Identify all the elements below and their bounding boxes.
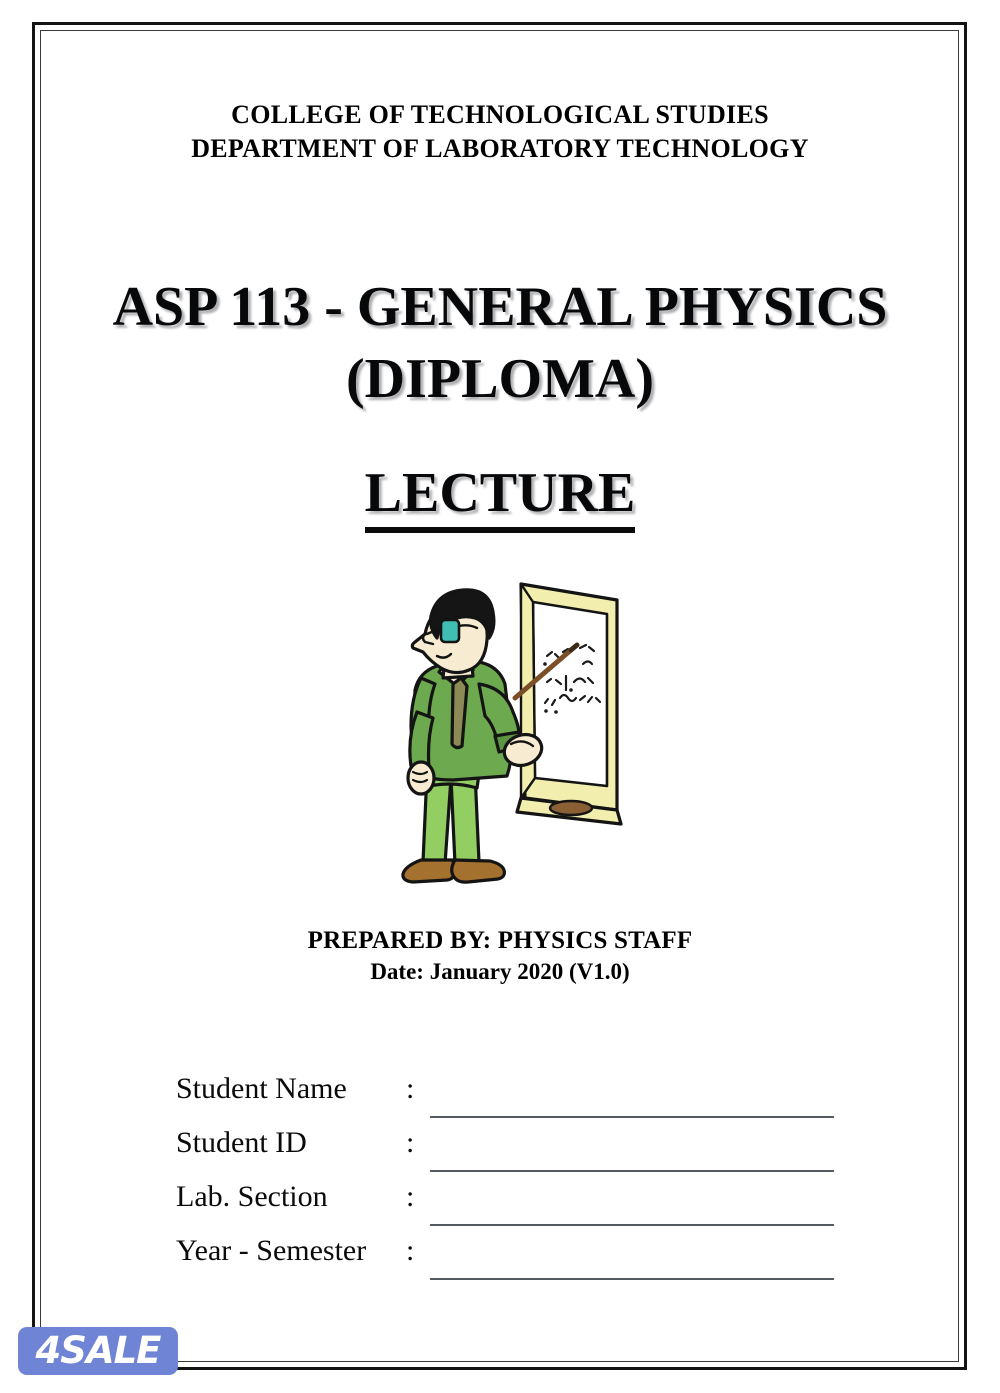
course-title-line-1: ASP 113 - GENERAL PHYSICS: [60, 272, 940, 344]
field-row-lab-section: Lab. Section :: [176, 1180, 856, 1234]
watermark-label: 4SALE: [36, 1332, 161, 1369]
prepared-by-block: PREPARED BY: PHYSICS STAFF Date: January…: [60, 925, 940, 987]
department-name: DEPARTMENT OF LABORATORY TECHNOLOGY: [60, 132, 940, 166]
subtitle-lecture: LECTURE: [365, 463, 636, 533]
institution-header: COLLEGE OF TECHNOLOGICAL STUDIES DEPARTM…: [60, 98, 940, 167]
document-page: COLLEGE OF TECHNOLOGICAL STUDIES DEPARTM…: [0, 0, 1000, 1393]
field-colon-year-semester: :: [406, 1234, 414, 1268]
date-line: Date: January 2020 (V1.0): [60, 957, 940, 987]
field-label-lab-section: Lab. Section: [176, 1180, 328, 1214]
field-input-student-name[interactable]: [430, 1116, 834, 1118]
field-label-year-semester: Year - Semester: [176, 1234, 366, 1268]
field-row-year-semester: Year - Semester :: [176, 1234, 856, 1288]
field-label-student-id: Student ID: [176, 1126, 307, 1160]
field-input-student-id[interactable]: [430, 1170, 834, 1172]
course-title-line-2: (DIPLOMA): [60, 344, 940, 416]
field-input-lab-section[interactable]: [430, 1224, 834, 1226]
course-title: ASP 113 - GENERAL PHYSICS (DIPLOMA): [60, 272, 940, 415]
college-name: COLLEGE OF TECHNOLOGICAL STUDIES: [60, 98, 940, 132]
teacher-at-whiteboard-illustration: [375, 572, 625, 902]
field-colon-student-name: :: [406, 1072, 414, 1106]
field-colon-student-id: :: [406, 1126, 414, 1160]
field-row-student-name: Student Name :: [176, 1072, 856, 1126]
subtitle-container: LECTURE: [60, 463, 940, 533]
field-label-student-name: Student Name: [176, 1072, 347, 1106]
field-colon-lab-section: :: [406, 1180, 414, 1214]
field-row-student-id: Student ID :: [176, 1126, 856, 1180]
field-input-year-semester[interactable]: [430, 1278, 834, 1280]
prepared-by-line: PREPARED BY: PHYSICS STAFF: [60, 925, 940, 957]
watermark-badge: 4SALE: [18, 1327, 178, 1375]
student-info-fields: Student Name : Student ID : Lab. Section…: [176, 1072, 856, 1288]
